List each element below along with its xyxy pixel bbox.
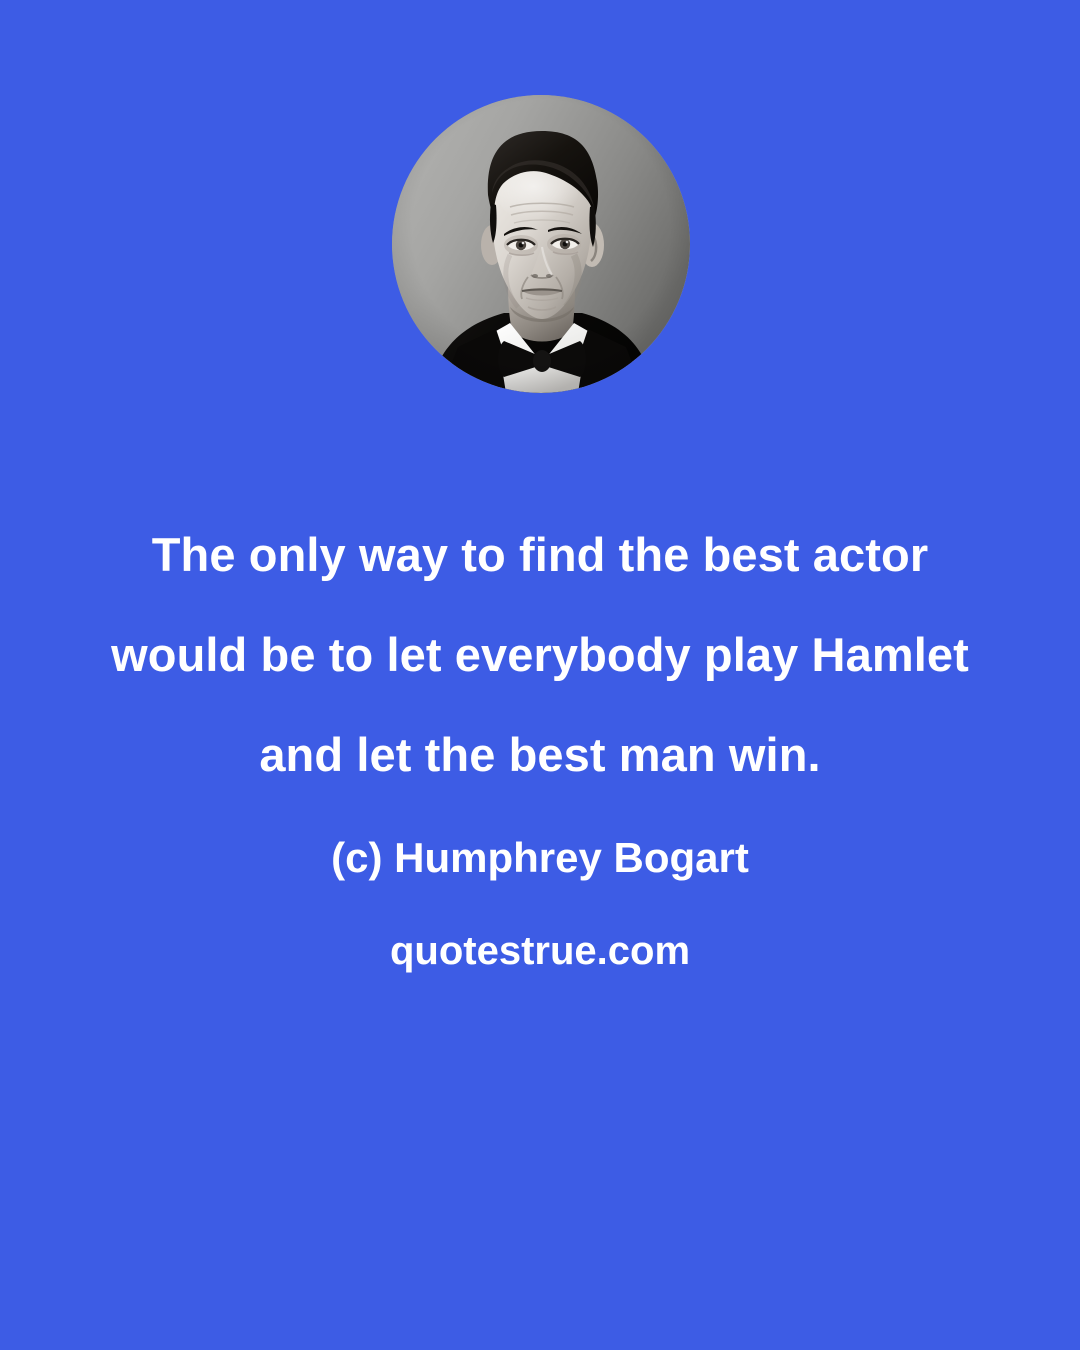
humphrey-bogart-portrait-icon [392,95,690,393]
quote-card: The only way to find the best actor woul… [0,0,1080,1350]
source-website: quotestrue.com [0,905,1080,997]
quote-line-1: The only way to find the best actor [0,505,1080,605]
portrait-container [392,95,690,393]
quote-line-3: and let the best man win. [0,705,1080,805]
quote-attribution: (c) Humphrey Bogart [0,810,1080,905]
quote-line-2: would be to let everybody play Hamlet [0,605,1080,705]
quote-text-block: The only way to find the best actor woul… [0,505,1080,997]
